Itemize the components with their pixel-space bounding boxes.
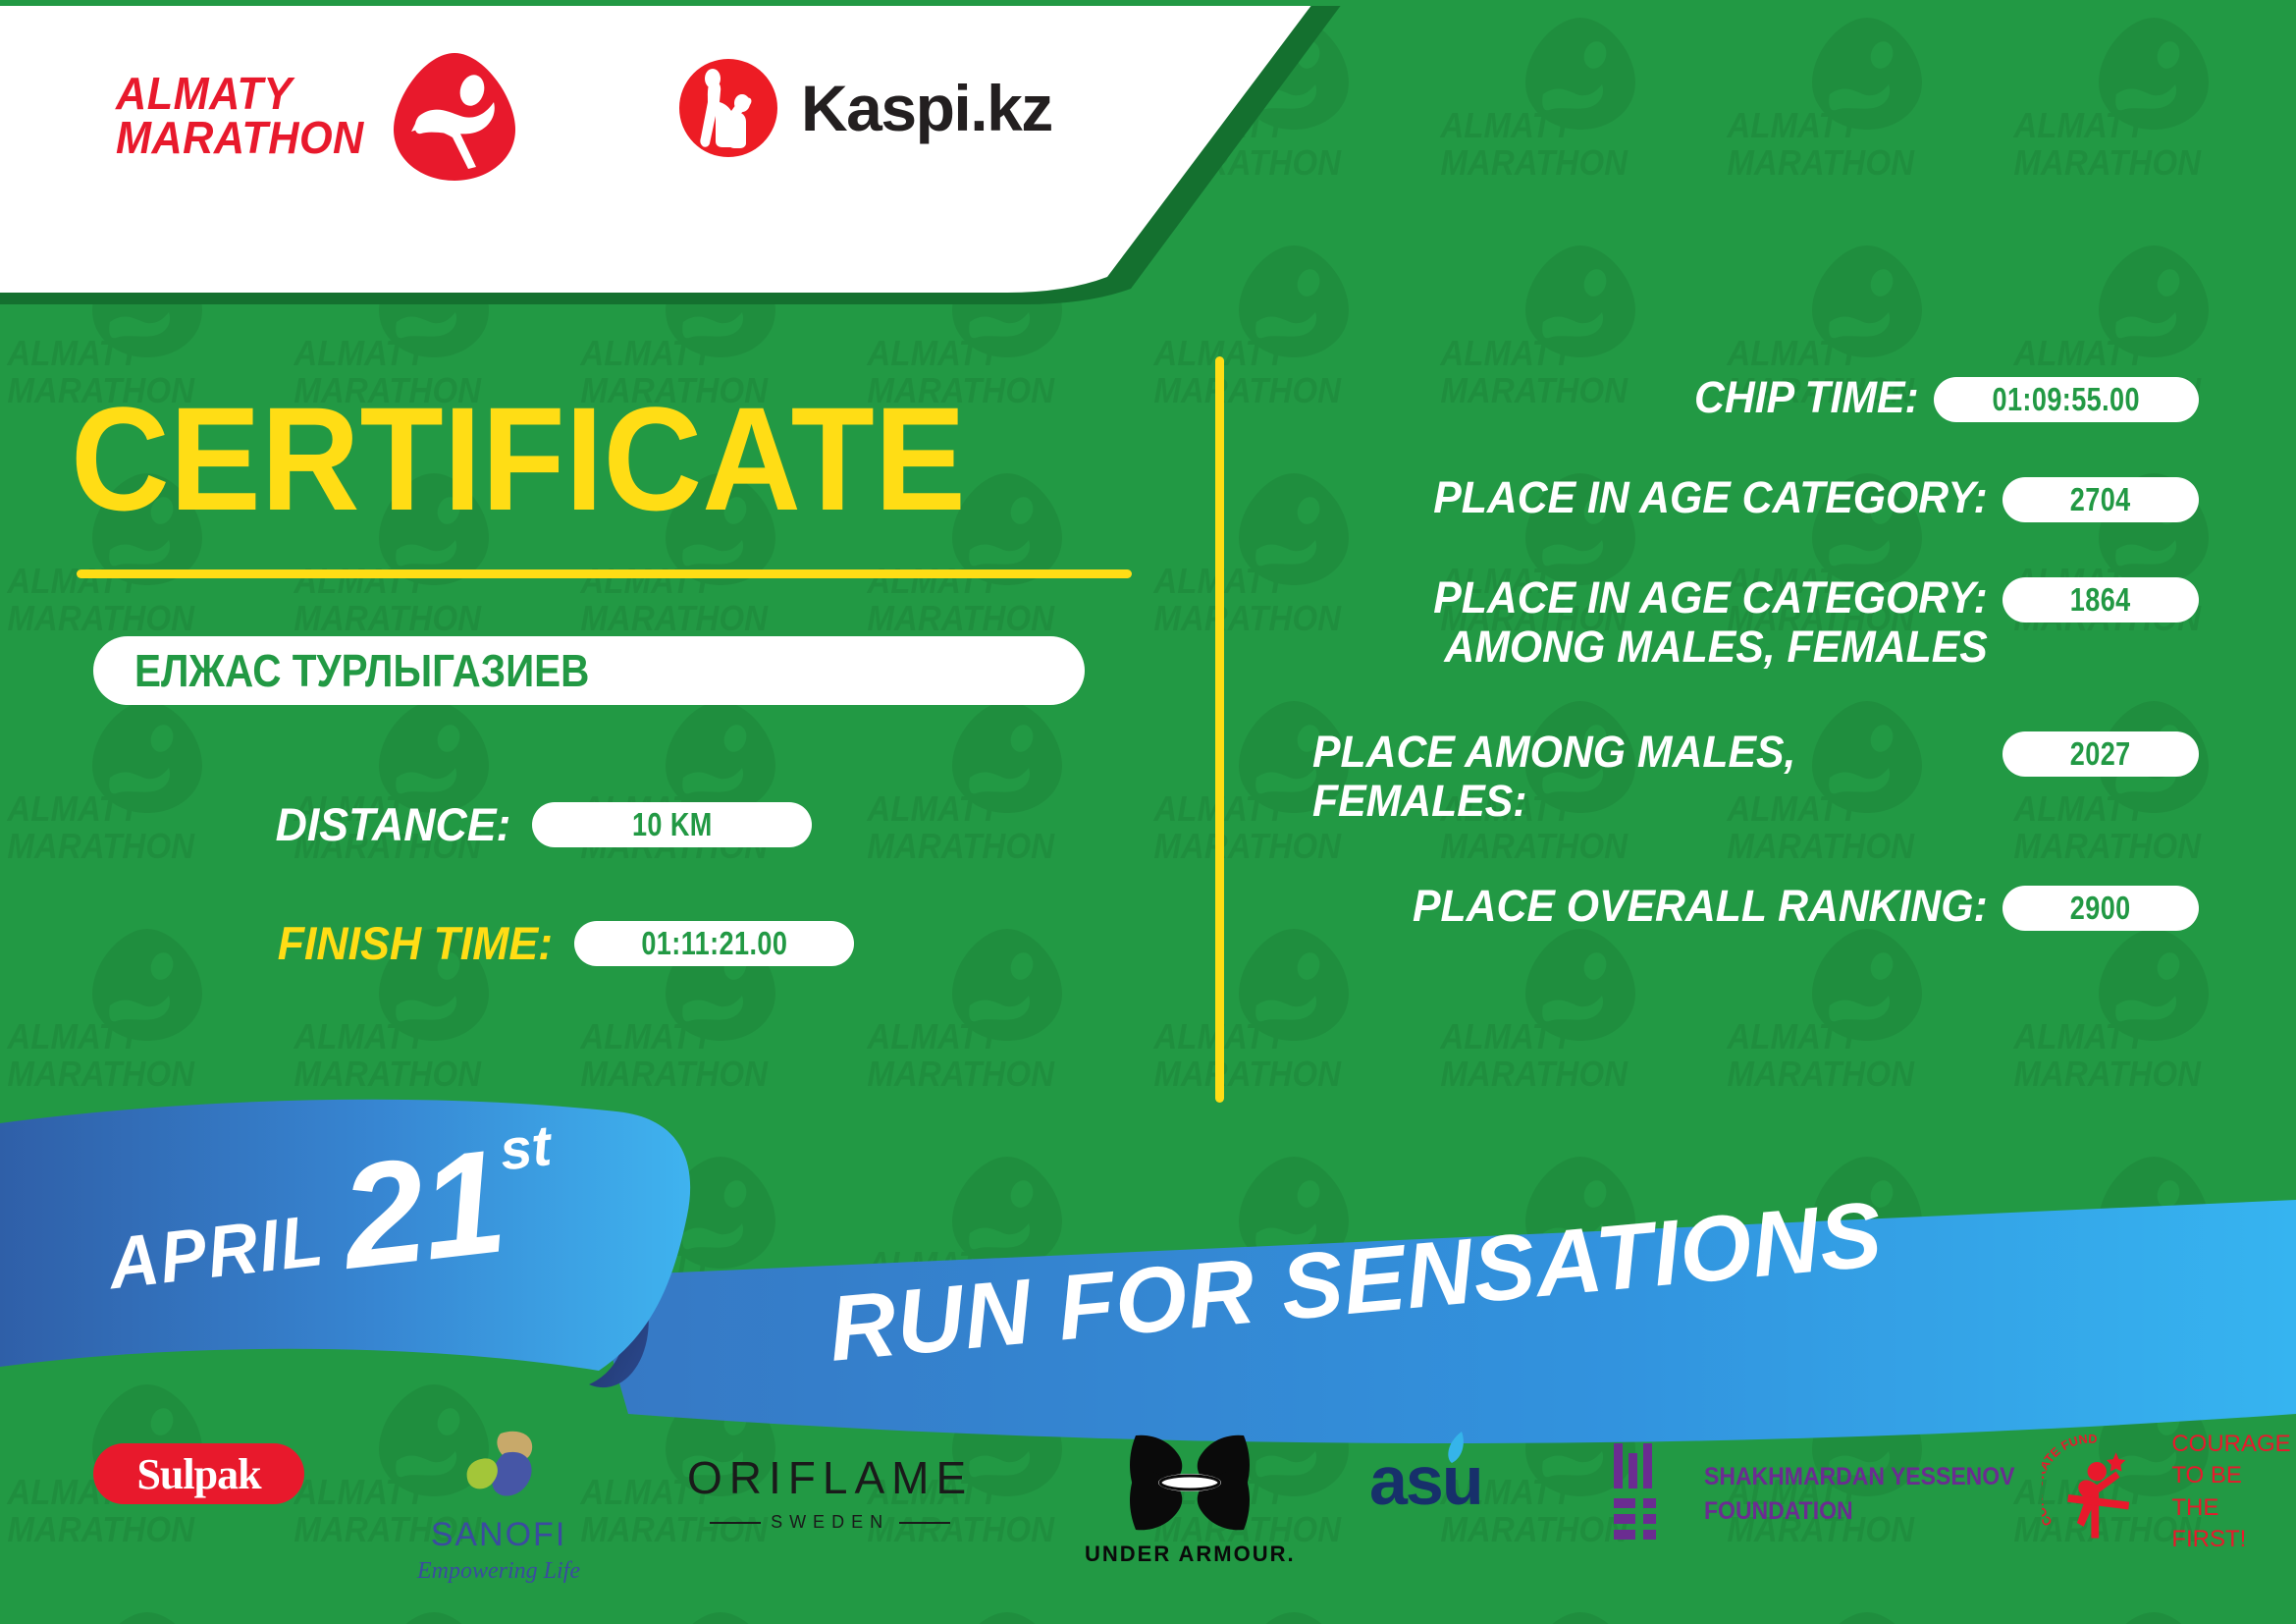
chip-time-value: 01:09:55.00 <box>1993 381 2140 418</box>
almaty-marathon-logo: ALMATY MARATHON <box>116 47 523 185</box>
place-age-value-pill: 2704 <box>2002 477 2199 522</box>
chip-time-label: CHIP TIME: <box>1309 373 1935 422</box>
courage-line2: TO BE <box>2171 1462 2242 1489</box>
oriflame-country: SWEDEN <box>771 1512 889 1533</box>
chip-time-value-pill: 01:09:55.00 <box>1934 377 2199 422</box>
sanofi-tagline: Empowering Life <box>417 1558 580 1585</box>
sulpak-wordmark: Sulpak <box>136 1449 260 1499</box>
sponsor-logo-yessenov-foundation: SHAKHMARDAN YESSENOV FOUNDATION <box>1610 1443 2042 1545</box>
participant-name-field: ЕЛЖАС ТУРЛЫГАЗИЕВ <box>93 636 1085 705</box>
almaty-marathon-drop-runner-icon <box>386 47 523 185</box>
event-day-suffix: st <box>497 1112 555 1183</box>
finish-time-value: 01:11:21.00 <box>641 925 787 962</box>
certificate-canvas: ALMATY MARATHON ALMATY MARATHON <box>0 0 2296 1624</box>
place-age-gender-label: PLACE IN AGE CATEGORY: AMONG MALES, FEMA… <box>1312 573 2002 673</box>
overall-rank-value-pill: 2900 <box>2002 886 2199 931</box>
yessenov-bars-icon <box>1610 1443 1679 1545</box>
event-day: 21 <box>336 1140 508 1278</box>
sponsor-logo-asu: asu <box>1369 1441 1482 1520</box>
kaspi-logo: Kaspi.kz <box>677 57 1052 159</box>
courage-line1: COURAGE <box>2171 1431 2290 1457</box>
sanofi-mark-icon <box>452 1426 546 1516</box>
courage-wordmark: COURAGE TO BE THE FIRST! <box>2171 1429 2296 1556</box>
oriflame-wordmark: ORIFLAME <box>687 1451 973 1504</box>
yessenov-line2: FOUNDATION <box>1704 1497 1853 1525</box>
page-title: CERTIFICATE <box>71 385 966 532</box>
yessenov-line1: SHAKHMARDAN YESSENOV <box>1704 1463 2015 1490</box>
under-armour-icon <box>1126 1432 1254 1534</box>
stat-row-place-age-gender: PLACE IN AGE CATEGORY: AMONG MALES, FEMA… <box>1276 573 2199 673</box>
distance-value: 10 KM <box>632 806 713 843</box>
column-divider <box>1215 356 1224 1103</box>
yessenov-wordmark: SHAKHMARDAN YESSENOV FOUNDATION <box>1704 1460 2015 1529</box>
participant-name: ЕЛЖАС ТУРЛЫГАЗИЕВ <box>134 644 589 697</box>
place-age-label: PLACE IN AGE CATEGORY: <box>1312 473 2002 522</box>
sponsor-logo-sulpak: Sulpak <box>93 1443 304 1504</box>
oriflame-rule-right <box>899 1522 950 1524</box>
stat-row-place-gender: PLACE AMONG MALES, FEMALES: 2027 <box>1276 728 2199 827</box>
courage-runner-icon: CORPORATE FUND <box>2042 1434 2156 1551</box>
place-age-gender-value-pill: 1864 <box>2002 577 2199 623</box>
sponsor-logo-courage-fund: CORPORATE FUND COURAGE TO BE THE FIRST! <box>2042 1429 2296 1556</box>
kaspi-wordmark: Kaspi.kz <box>801 71 1052 145</box>
place-gender-value-pill: 2027 <box>2002 731 2199 777</box>
place-age-gender-value: 1864 <box>2070 581 2131 619</box>
under-armour-wordmark: UNDER ARMOUR. <box>1085 1542 1296 1567</box>
asu-droplet-icon <box>1440 1430 1469 1473</box>
courage-line3: THE FIRST! <box>2171 1494 2246 1552</box>
finish-time-value-pill: 01:11:21.00 <box>574 921 854 966</box>
distance-value-pill: 10 KM <box>532 802 812 847</box>
sponsor-logo-sanofi: SANOFI Empowering Life <box>417 1426 580 1585</box>
place-age-value: 2704 <box>2070 481 2131 518</box>
stat-row-overall: PLACE OVERALL RANKING: 2900 <box>1276 882 2199 939</box>
stats-column: CHIP TIME: 01:09:55.00 PLACE IN AGE CATE… <box>1276 373 2199 976</box>
kaspi-circle-people-icon <box>677 57 779 159</box>
oriflame-sub: SWEDEN <box>710 1512 950 1533</box>
overall-rank-value: 2900 <box>2070 890 2131 927</box>
sanofi-wordmark: SANOFI <box>431 1516 567 1554</box>
distance-row: DISTANCE: 10 KM <box>263 797 812 851</box>
title-underline <box>77 569 1132 578</box>
place-gender-value: 2027 <box>2070 735 2131 773</box>
almaty-wordmark-line1: ALMATY <box>116 72 364 116</box>
distance-label: DISTANCE: <box>276 797 511 851</box>
place-gender-label: PLACE AMONG MALES, FEMALES: <box>1312 728 2002 827</box>
finish-time-label: FINISH TIME: <box>278 916 553 970</box>
stat-row-place-age: PLACE IN AGE CATEGORY: 2704 <box>1276 473 2199 530</box>
top-accent-strip <box>0 0 2296 6</box>
overall-rank-label: PLACE OVERALL RANKING: <box>1312 882 2002 931</box>
stat-row-chip-time: CHIP TIME: 01:09:55.00 <box>1276 373 2199 430</box>
finish-time-row: FINISH TIME: 01:11:21.00 <box>263 916 854 970</box>
sponsor-logo-oriflame: ORIFLAME SWEDEN <box>687 1451 973 1533</box>
almaty-wordmark-line2: MARATHON <box>116 116 364 160</box>
oriflame-rule-left <box>710 1522 761 1524</box>
sponsor-logo-under-armour: UNDER ARMOUR. <box>1085 1432 1296 1567</box>
